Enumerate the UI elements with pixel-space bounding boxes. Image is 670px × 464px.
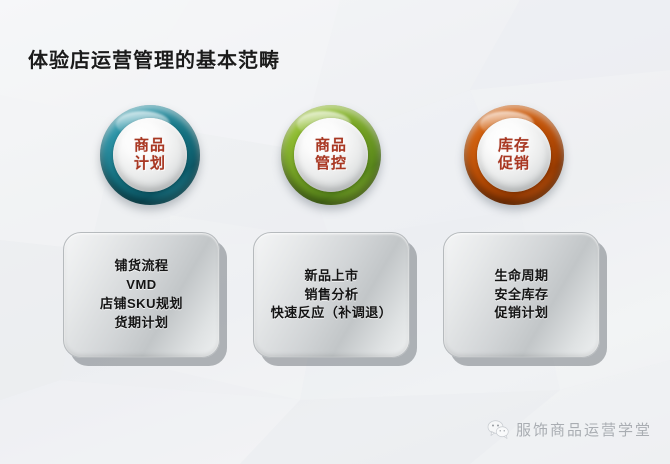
- circle-node-product-planning[interactable]: 商品 计划: [100, 105, 200, 205]
- circle-label-line1: 库存: [498, 137, 530, 155]
- detail-box-text: 新品上市销售分析快速反应（补调退）: [271, 267, 393, 324]
- circle-inner-face: 商品 管控: [294, 118, 368, 192]
- circle-label-line2: 计划: [134, 155, 166, 173]
- circle-label-line2: 促销: [498, 155, 530, 173]
- circle-inner-face: 库存 促销: [477, 118, 551, 192]
- circle-inner-face: 商品 计划: [113, 118, 187, 192]
- watermark-text: 服饰商品运营学堂: [516, 419, 652, 440]
- detail-box-line: 货期计划: [100, 314, 183, 333]
- detail-box-line: VMD: [100, 276, 183, 295]
- circle-label-line2: 管控: [315, 155, 347, 173]
- watermark: 服饰商品运营学堂: [487, 419, 652, 440]
- wechat-icon: [487, 420, 509, 439]
- page-title: 体验店运营管理的基本范畴: [28, 44, 280, 73]
- circle-node-product-control[interactable]: 商品 管控: [281, 105, 381, 205]
- detail-box-inventory-promotion[interactable]: 生命周期安全库存促销计划: [443, 232, 600, 358]
- slide-canvas: 体验店运营管理的基本范畴 商品 计划 商品 管控 库存 促销 铺货流程VMD店铺…: [0, 0, 670, 464]
- detail-box-line: 促销计划: [494, 304, 548, 323]
- detail-box-line: 新品上市: [271, 267, 393, 286]
- detail-box-line: 铺货流程: [100, 257, 183, 276]
- detail-box-text: 生命周期安全库存促销计划: [494, 267, 548, 324]
- circle-label-line1: 商品: [134, 137, 166, 155]
- detail-box-product-planning[interactable]: 铺货流程VMD店铺SKU规划货期计划: [63, 232, 220, 358]
- detail-box-line: 快速反应（补调退）: [271, 304, 393, 323]
- detail-box-text: 铺货流程VMD店铺SKU规划货期计划: [100, 257, 183, 332]
- circle-node-inventory-promotion[interactable]: 库存 促销: [464, 105, 564, 205]
- detail-box-product-control[interactable]: 新品上市销售分析快速反应（补调退）: [253, 232, 410, 358]
- circle-label-line1: 商品: [315, 137, 347, 155]
- detail-box-line: 生命周期: [494, 267, 548, 286]
- detail-box-line: 店铺SKU规划: [100, 295, 183, 314]
- detail-box-line: 安全库存: [494, 286, 548, 305]
- detail-box-line: 销售分析: [271, 286, 393, 305]
